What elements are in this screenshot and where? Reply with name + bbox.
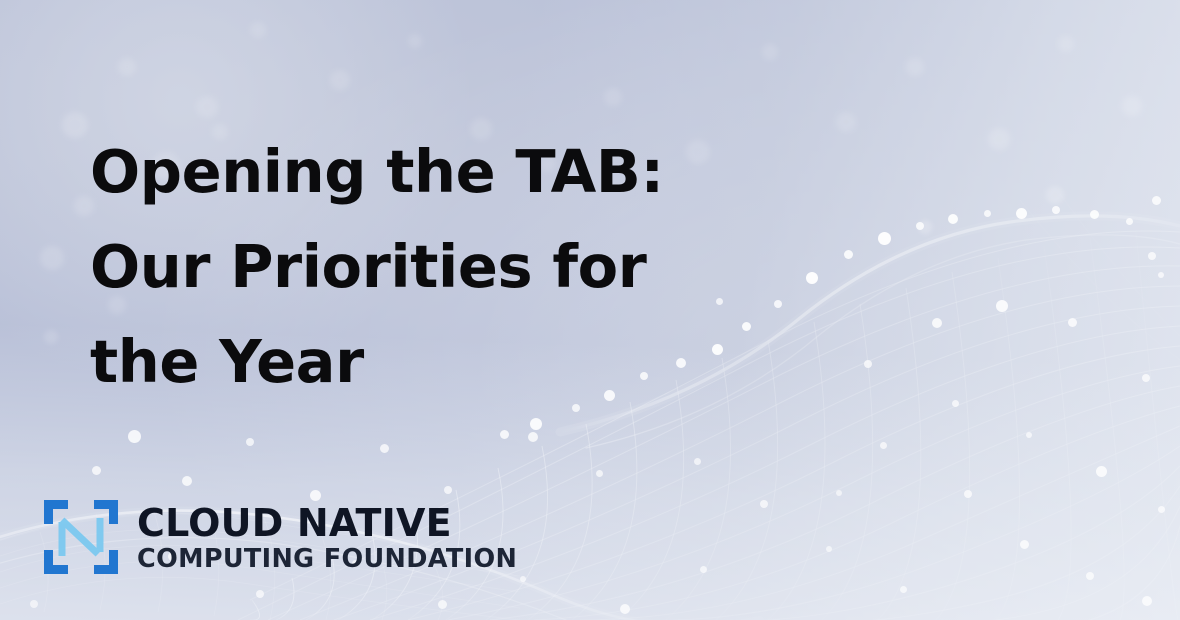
cncf-wordmark-line-1: CLOUD NATIVE	[137, 503, 517, 543]
cncf-bracket-n-icon	[42, 498, 120, 576]
slide-title: Opening the TAB: Our Priorities for the …	[90, 124, 730, 409]
title-line-2: Our Priorities for	[90, 219, 730, 314]
title-line-3: the Year	[90, 314, 730, 409]
title-line-1: Opening the TAB:	[90, 124, 730, 219]
slide-canvas: Opening the TAB: Our Priorities for the …	[0, 0, 1180, 620]
cncf-logo: CLOUD NATIVE COMPUTING FOUNDATION	[42, 498, 517, 576]
cncf-wordmark: CLOUD NATIVE COMPUTING FOUNDATION	[137, 501, 517, 574]
cncf-wordmark-line-2: COMPUTING FOUNDATION	[137, 544, 517, 574]
